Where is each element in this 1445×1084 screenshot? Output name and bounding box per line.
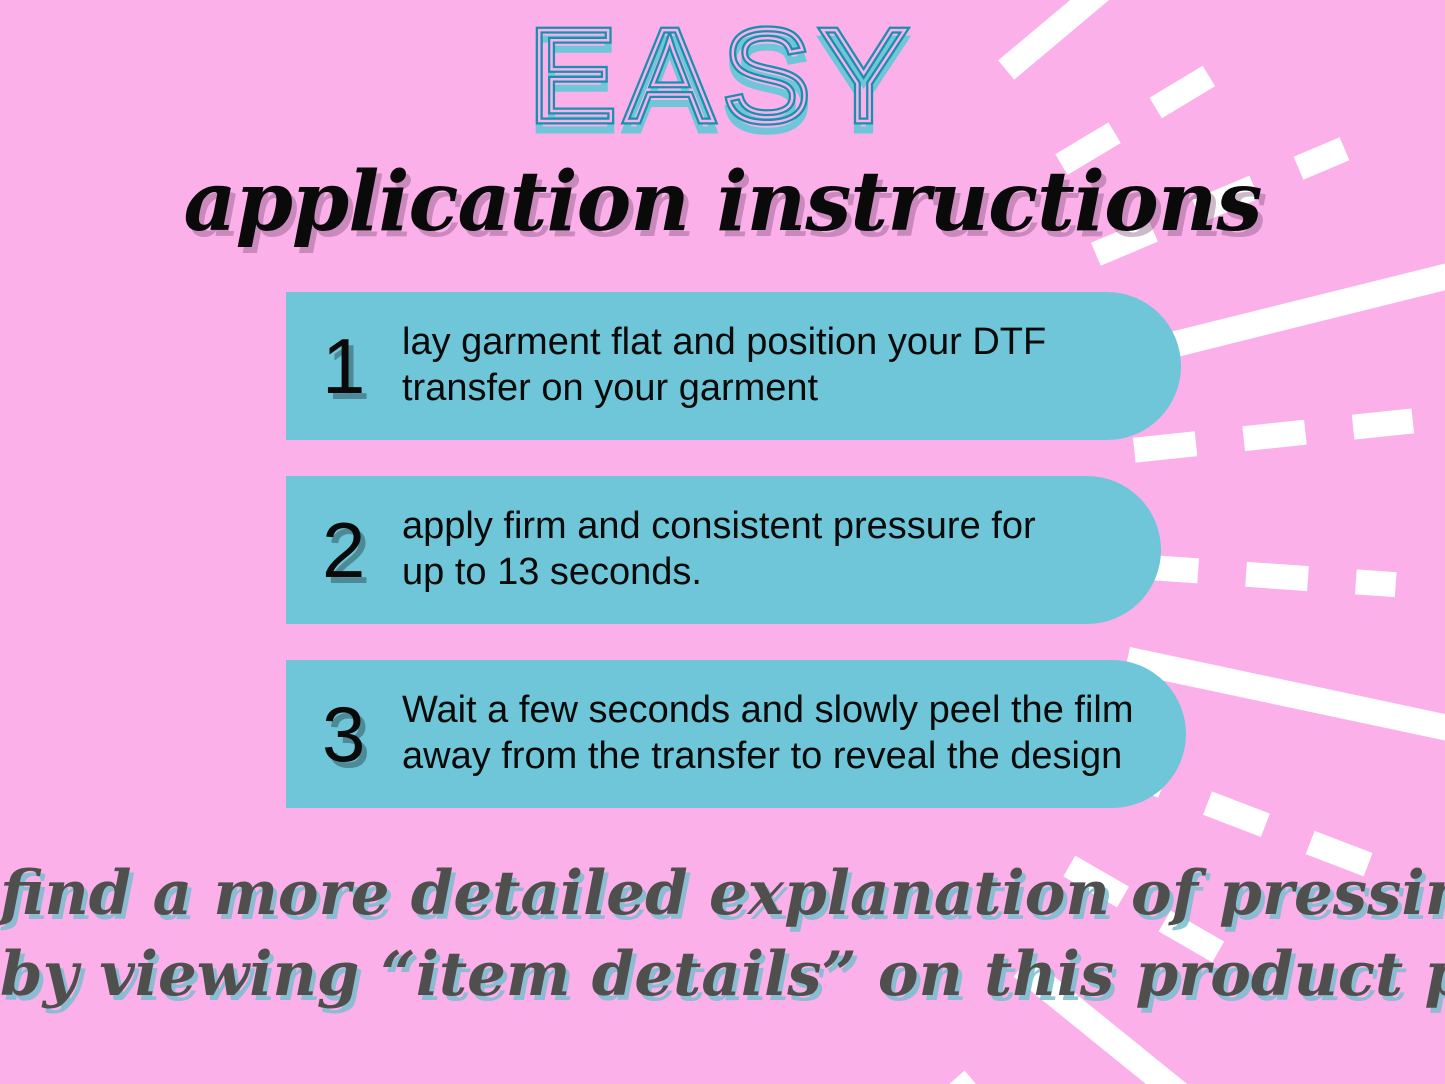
step-text-3: Wait a few seconds and slowly peel the f…	[402, 688, 1186, 780]
footer-line-2: by viewing “item details” on this produc…	[0, 935, 1445, 1016]
headline-easy-inner-layer: EASY	[0, 10, 1445, 142]
footer-note: find a more detailed explanation of pres…	[0, 854, 1445, 1015]
step-item-1: 1 lay garment flat and position your DTF…	[286, 292, 1181, 440]
footer-line-1: find a more detailed explanation of pres…	[0, 854, 1445, 935]
steps-list: 1 lay garment flat and position your DTF…	[286, 292, 1186, 808]
sunburst-ray-segment	[956, 1079, 997, 1084]
step-number-3: 3	[286, 695, 402, 773]
step-text-2: apply firm and consistent pressure for u…	[402, 504, 1161, 596]
step-text-1: lay garment flat and position your DTF t…	[402, 320, 1181, 412]
sunburst-ray-segment	[1356, 582, 1396, 585]
step-item-3: 3 Wait a few seconds and slowly peel the…	[286, 660, 1186, 808]
sunburst-ray-segment	[1246, 574, 1308, 578]
step-item-2: 2 apply firm and consistent pressure for…	[286, 476, 1161, 624]
instruction-graphic: EASY EASY EASY application instructions …	[0, 0, 1445, 1084]
sunburst-ray-segment	[1244, 432, 1306, 439]
step-number-1: 1	[286, 327, 402, 405]
sunburst-ray-segment	[1208, 803, 1266, 825]
step-number-2: 2	[286, 511, 402, 589]
headline-subtitle: application instructions	[0, 154, 1445, 250]
sunburst-ray-segment	[1353, 421, 1413, 427]
